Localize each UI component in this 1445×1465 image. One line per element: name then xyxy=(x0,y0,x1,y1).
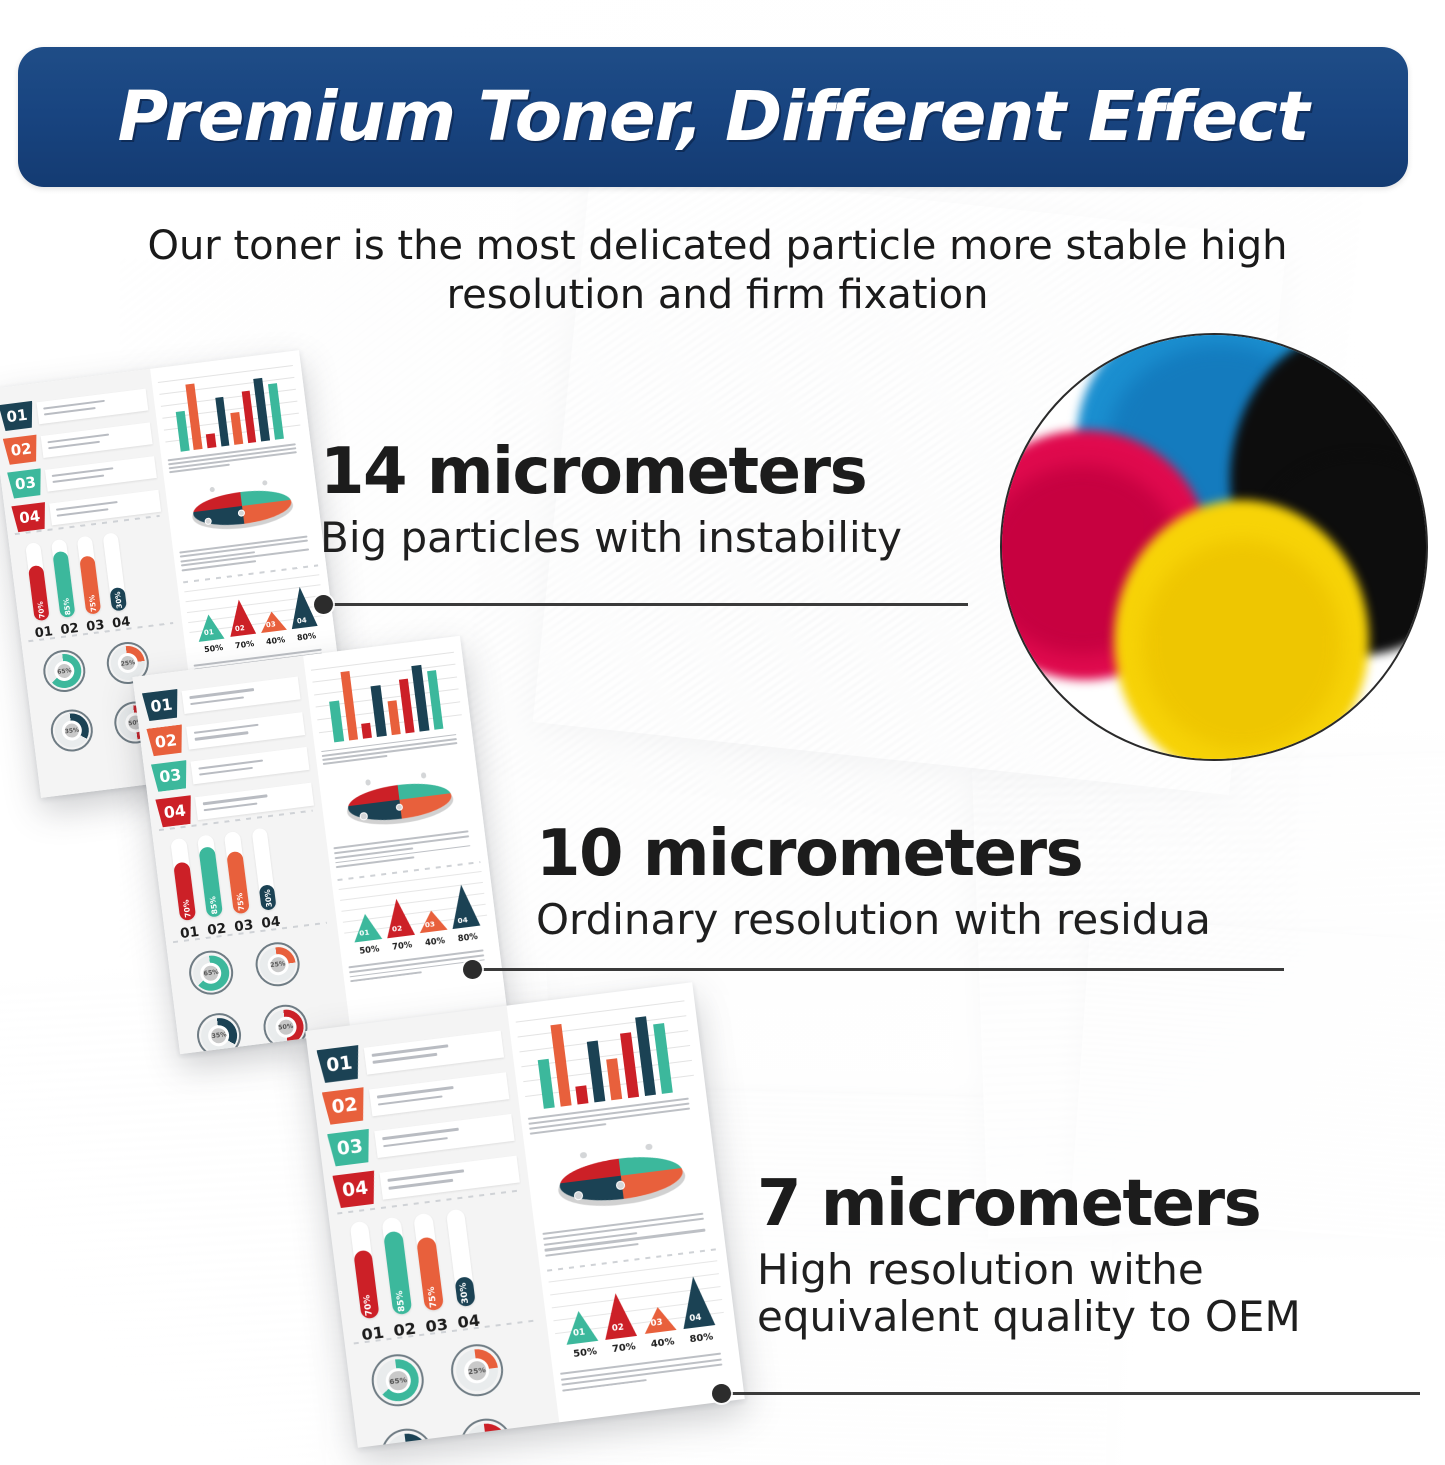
capsule-value-label: 75% xyxy=(87,594,98,612)
triangle-category-label: 03 xyxy=(424,920,435,930)
callout-7um-size: 7 micrometers xyxy=(757,1172,1357,1236)
triangle-category-label: 02 xyxy=(391,924,402,934)
column-bar xyxy=(538,1058,555,1108)
column-bar xyxy=(575,1085,588,1104)
column-bar xyxy=(230,412,243,445)
capsule-value-label: 70% xyxy=(181,900,192,919)
column-bar xyxy=(620,1033,639,1098)
capsule-value-label: 30% xyxy=(262,889,273,908)
column-bar xyxy=(186,383,203,450)
callout-10um: 10 micrometers Ordinary resolution with … xyxy=(536,822,1211,943)
column-bar xyxy=(387,701,400,736)
page-title: Premium Toner, Different Effect xyxy=(118,77,1309,157)
column-bar xyxy=(399,678,415,733)
callout-14um-description: Big particles with instability xyxy=(320,514,902,561)
donut-node-marker xyxy=(360,812,368,820)
banner-number-tag: 02 xyxy=(322,1087,368,1125)
capsule-value-label: 85% xyxy=(208,896,219,915)
capsule-value-label: 85% xyxy=(61,598,72,616)
callout-7um-description-line-2: equivalent quality to OEM xyxy=(757,1293,1357,1340)
column-bar xyxy=(551,1023,572,1106)
callout-7um: 7 micrometers High resolution withe equi… xyxy=(757,1172,1357,1340)
callout-14um-size: 14 micrometers xyxy=(320,440,902,504)
triangle-category-label: 03 xyxy=(265,620,276,629)
column-bar xyxy=(206,433,216,448)
triangle-category-label: 02 xyxy=(234,624,245,633)
banner-number-tag: 01 xyxy=(0,400,36,431)
triangle-category-label: 04 xyxy=(457,916,468,926)
callout-14um-rule xyxy=(330,603,968,606)
donut-node-marker xyxy=(616,1180,626,1190)
banner-number-tag: 01 xyxy=(142,689,181,722)
capsule-value-label: 30% xyxy=(459,1282,472,1304)
triangle-area xyxy=(563,1309,599,1345)
callout-10um-rule xyxy=(476,968,1284,971)
column-bar xyxy=(653,1023,673,1093)
callout-7um-description-line-1: High resolution withe xyxy=(757,1246,1357,1293)
triangle-category-label: 04 xyxy=(296,616,307,625)
callout-10um-size: 10 micrometers xyxy=(536,822,1211,886)
banner-number-tag: 03 xyxy=(7,468,44,499)
toner-pile-yellow-core xyxy=(1142,540,1342,750)
column-bar xyxy=(606,1059,622,1100)
column-bar xyxy=(340,671,358,741)
header-banner: Premium Toner, Different Effect xyxy=(18,47,1408,187)
donut-node-marker xyxy=(574,1190,584,1200)
callout-14um-anchor-dot xyxy=(314,595,333,614)
column-bar xyxy=(176,411,190,451)
triangle-category-label: 01 xyxy=(203,628,214,637)
callout-10um-description: Ordinary resolution with residua xyxy=(536,896,1211,943)
column-bar xyxy=(241,391,256,444)
triangle-category-label: 01 xyxy=(359,928,370,938)
banner-number-tag: 03 xyxy=(151,760,190,793)
capsule-value-label: 75% xyxy=(235,893,246,912)
printed-sheet-7um: 0102030470%0185%0275%0330%0465%25%35%50%… xyxy=(305,982,745,1448)
callout-7um-anchor-dot xyxy=(712,1384,731,1403)
banner-number-tag: 02 xyxy=(3,434,40,465)
banner-number-tag: 04 xyxy=(155,795,194,828)
triangle-area xyxy=(351,912,382,942)
banner-number-tag: 01 xyxy=(316,1045,362,1083)
capsule-value-label: 70% xyxy=(363,1294,376,1316)
capsule-value-label: 85% xyxy=(395,1290,408,1312)
infographic-canvas: Premium Toner, Different Effect Our tone… xyxy=(0,0,1445,1465)
callout-7um-description: High resolution withe equivalent quality… xyxy=(757,1246,1357,1340)
printed-sheet-10um: 0102030470%0185%0275%0330%0465%25%35%50%… xyxy=(132,636,507,1054)
capsule-value-label: 70% xyxy=(35,601,46,619)
donut-node-marker xyxy=(419,771,427,779)
column-bar xyxy=(361,723,372,739)
banner-number-tag: 02 xyxy=(146,724,185,757)
triangle-category-label: 02 xyxy=(611,1322,624,1333)
triangle-category-label: 01 xyxy=(573,1327,586,1338)
callout-7um-rule xyxy=(725,1392,1420,1395)
banner-number-tag: 04 xyxy=(11,502,48,533)
column-bar xyxy=(329,700,343,742)
capsule-fill: 30% xyxy=(109,586,127,611)
banner-lorem-line xyxy=(198,759,263,769)
subtitle-line-1: Our toner is the most delicated particle… xyxy=(110,222,1325,271)
callout-10um-anchor-dot xyxy=(463,960,482,979)
banner-number-tag: 04 xyxy=(332,1171,378,1209)
banner-number-tag: 03 xyxy=(327,1129,373,1167)
callout-14um: 14 micrometers Big particles with instab… xyxy=(320,440,902,561)
cmyk-toner-powder-photo xyxy=(1000,333,1428,761)
triangle-category-label: 03 xyxy=(650,1318,663,1329)
capsule-value-label: 30% xyxy=(113,591,124,609)
capsule-value-label: 75% xyxy=(427,1286,440,1308)
triangle-category-label: 04 xyxy=(689,1313,702,1324)
donut-node-marker xyxy=(364,778,372,786)
subtitle-line-2: resolution and firm fixation xyxy=(110,271,1325,320)
page-subtitle: Our toner is the most delicated particle… xyxy=(110,222,1325,320)
